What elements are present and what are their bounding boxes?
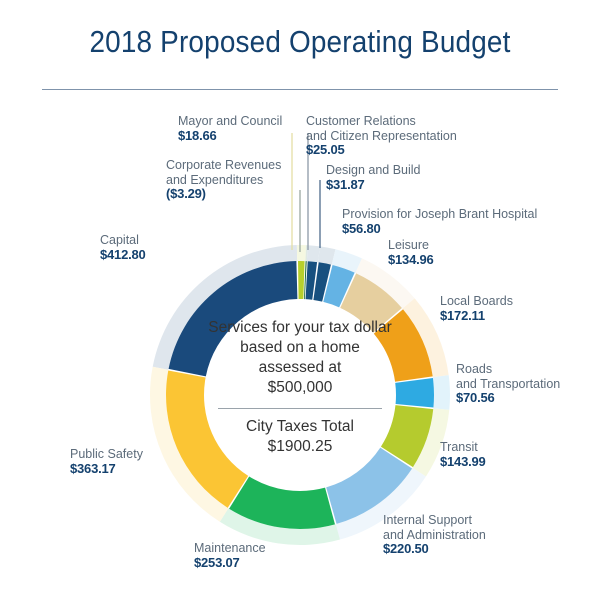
callout-value-mayor-and-council: $18.66 bbox=[178, 129, 282, 144]
center-text-block: Services for your tax dollar based on a … bbox=[206, 318, 394, 457]
slice-mayor-and-council[interactable]: Mayor and Council $18.66 bbox=[298, 261, 305, 299]
callout-roads-and-transportation: Roads and Transportation$70.56 bbox=[456, 362, 560, 406]
callout-label-maintenance: Maintenance bbox=[194, 541, 266, 555]
callout-value-leisure: $134.96 bbox=[388, 253, 434, 268]
callout-value-capital: $412.80 bbox=[100, 248, 146, 263]
center-divider bbox=[218, 408, 382, 409]
callout-internal-support-and-administration: Internal Support and Administration$220.… bbox=[383, 513, 486, 557]
callout-label-transit: Transit bbox=[440, 440, 478, 454]
callout-capital: Capital$412.80 bbox=[100, 233, 146, 262]
callout-value-customer-relations-and-citizen-representation: $25.05 bbox=[306, 143, 457, 158]
callout-label-local-boards: Local Boards bbox=[440, 294, 513, 308]
callout-value-public-safety: $363.17 bbox=[70, 462, 143, 477]
callout-transit: Transit$143.99 bbox=[440, 440, 486, 469]
callout-label-capital: Capital bbox=[100, 233, 139, 247]
callout-value-internal-support-and-administration: $220.50 bbox=[383, 542, 486, 557]
callout-value-roads-and-transportation: $70.56 bbox=[456, 391, 560, 406]
callout-value-maintenance: $253.07 bbox=[194, 556, 266, 571]
center-total: City Taxes Total $1900.25 bbox=[206, 417, 394, 457]
callout-public-safety: Public Safety$363.17 bbox=[70, 447, 143, 476]
halo-roads-and-transportation bbox=[433, 375, 450, 410]
center-description-text: Services for your tax dollar based on a … bbox=[208, 319, 392, 376]
callout-label-leisure: Leisure bbox=[388, 238, 429, 252]
callout-maintenance: Maintenance$253.07 bbox=[194, 541, 266, 570]
halo-customer-relations-and-citizen-representation bbox=[307, 245, 320, 262]
callout-value-corporate-revenues-and-expenditures: ($3.29) bbox=[166, 187, 281, 202]
callout-corporate-revenues-and-expenditures: Corporate Revenues and Expenditures($3.2… bbox=[166, 158, 281, 202]
callout-mayor-and-council: Mayor and Council$18.66 bbox=[178, 114, 282, 143]
callout-value-design-and-build: $31.87 bbox=[326, 178, 421, 193]
callout-label-public-safety: Public Safety bbox=[70, 447, 143, 461]
callout-label-mayor-and-council: Mayor and Council bbox=[178, 114, 282, 128]
center-total-value: $1900.25 bbox=[268, 438, 333, 455]
callout-leisure: Leisure$134.96 bbox=[388, 238, 434, 267]
callout-provision-for-joseph-brant-hospital: Provision for Joseph Brant Hospital$56.8… bbox=[342, 207, 537, 236]
callout-label-roads-and-transportation: Roads and Transportation bbox=[456, 362, 560, 391]
callout-label-design-and-build: Design and Build bbox=[326, 163, 421, 177]
center-assessed-value: $500,000 bbox=[268, 379, 333, 396]
callout-local-boards: Local Boards$172.11 bbox=[440, 294, 513, 323]
callout-customer-relations-and-citizen-representation: Customer Relations and Citizen Represent… bbox=[306, 114, 457, 158]
callout-design-and-build: Design and Build$31.87 bbox=[326, 163, 421, 192]
center-total-label: City Taxes Total bbox=[246, 418, 354, 435]
callout-label-internal-support-and-administration: Internal Support and Administration bbox=[383, 513, 486, 542]
callout-value-provision-for-joseph-brant-hospital: $56.80 bbox=[342, 222, 537, 237]
callout-value-local-boards: $172.11 bbox=[440, 309, 513, 324]
callout-value-transit: $143.99 bbox=[440, 455, 486, 470]
center-description: Services for your tax dollar based on a … bbox=[206, 318, 394, 398]
slice-roads-and-transportation[interactable]: Roads and Transportation $70.56 bbox=[395, 378, 434, 407]
callout-label-provision-for-joseph-brant-hospital: Provision for Joseph Brant Hospital bbox=[342, 207, 537, 221]
callout-label-customer-relations-and-citizen-representation: Customer Relations and Citizen Represent… bbox=[306, 114, 457, 143]
callout-label-corporate-revenues-and-expenditures: Corporate Revenues and Expenditures bbox=[166, 158, 281, 187]
halo-mayor-and-council bbox=[297, 245, 306, 261]
infographic-root: 2018 Proposed Operating Budget Capital $… bbox=[0, 0, 600, 600]
